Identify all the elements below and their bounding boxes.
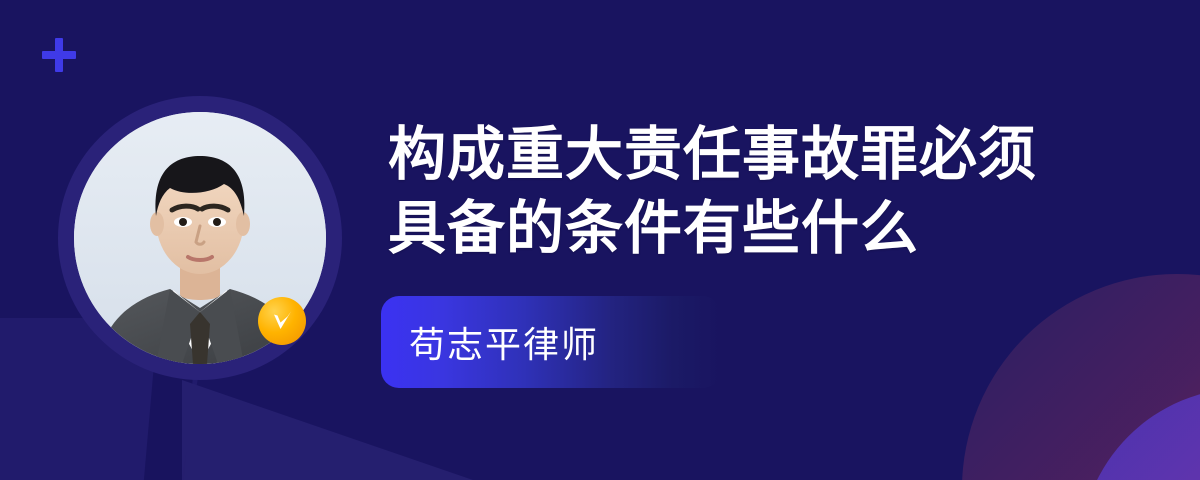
avatar <box>58 96 342 380</box>
headline-line-1: 构成重大责任事故罪必须 <box>388 118 1141 192</box>
headline-line-2: 具备的条件有些什么 <box>388 192 1141 266</box>
decorative-circle-outer <box>962 274 1200 480</box>
decorative-triangle-wedge <box>182 380 502 480</box>
author-name: 苟志平律师 <box>409 316 599 368</box>
verified-check-icon <box>258 297 306 345</box>
content-block: 构成重大责任事故罪必须 具备的条件有些什么 苟志平律师 <box>381 118 1141 266</box>
plus-icon <box>40 36 78 74</box>
author-pill[interactable]: 苟志平律师 <box>381 296 721 388</box>
decorative-circle-inner <box>1080 388 1200 480</box>
lawyer-qa-banner: 构成重大责任事故罪必须 具备的条件有些什么 苟志平律师 <box>0 0 1200 480</box>
page-title: 构成重大责任事故罪必须 具备的条件有些什么 <box>381 118 1141 266</box>
